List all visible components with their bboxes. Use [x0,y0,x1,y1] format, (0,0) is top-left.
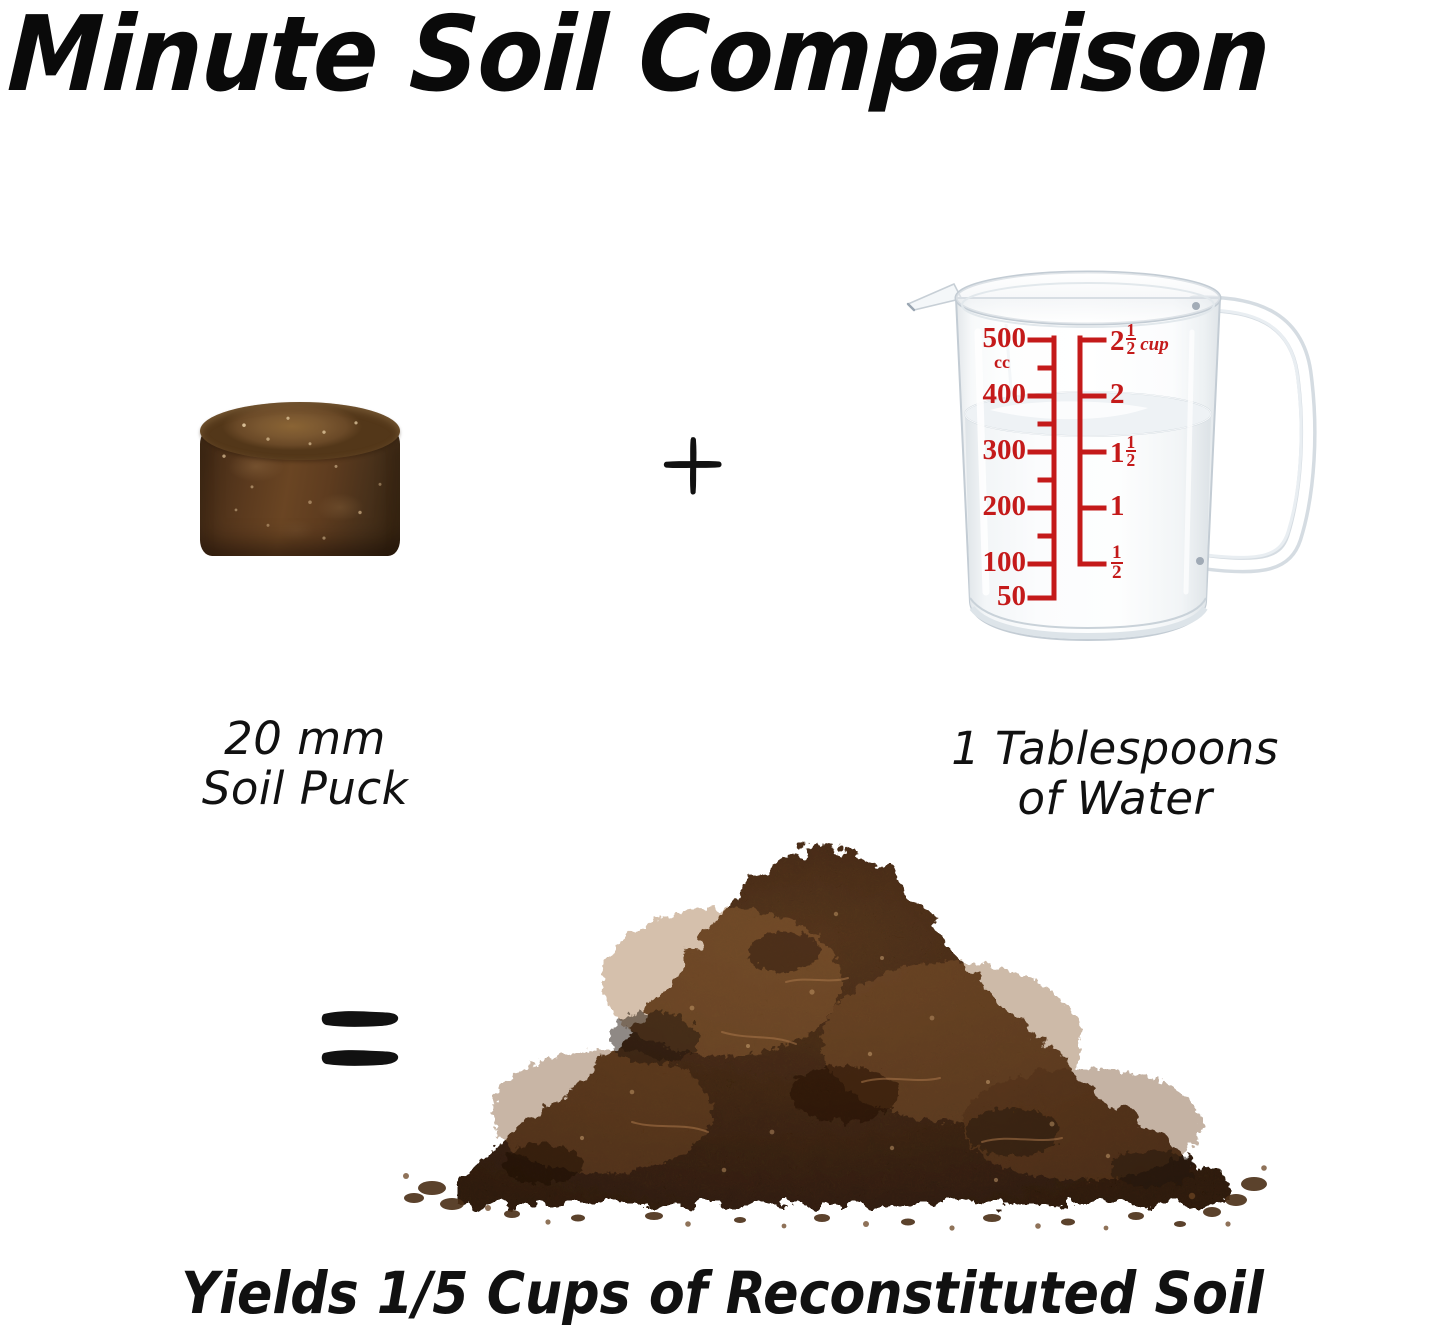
water-label: 1 Tablespoons of Water [890,724,1340,824]
plus-operator-icon [658,430,730,502]
soil-puck-label: 20 mm Soil Puck [140,714,470,814]
result-caption: Yields 1/5 Cups of Reconstituted Soil [72,1258,1373,1328]
measuring-cup-image: 500 cc 212cup 400 2 300 112 200 1 100 12… [894,262,1324,654]
page-title: Minute Soil Comparison [5,0,1317,118]
infographic-canvas: Minute Soil Comparison [0,0,1445,1341]
reconstituted-soil-pile-image [392,832,1272,1232]
soil-puck-image [196,400,406,568]
soil-puck-top [200,402,400,460]
